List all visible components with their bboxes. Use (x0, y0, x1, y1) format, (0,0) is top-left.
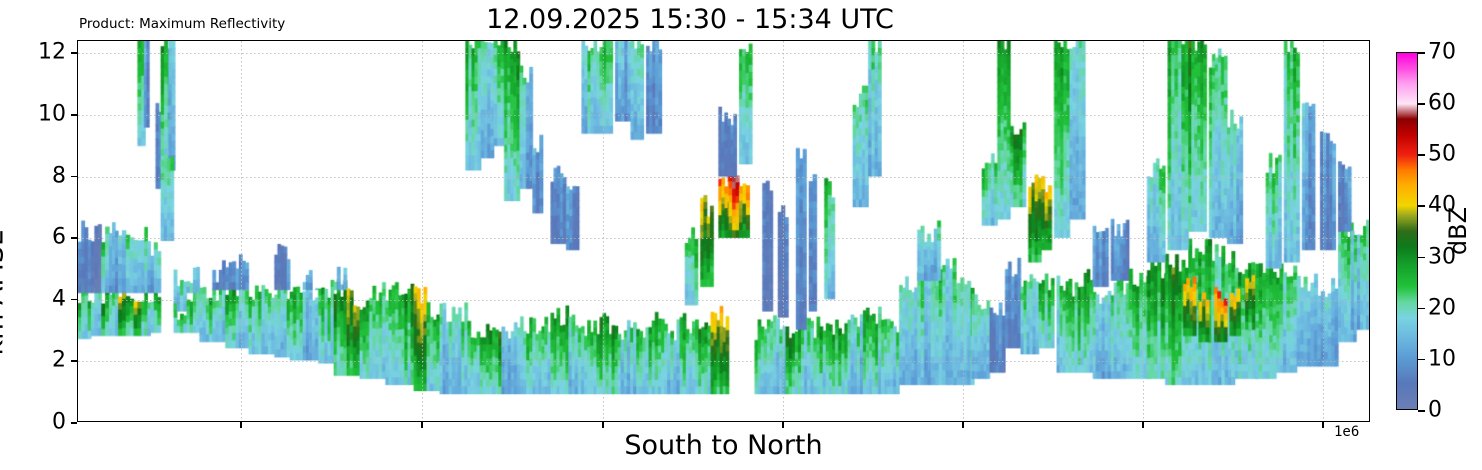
colorbar-tick (1418, 257, 1425, 259)
gridline-vertical (1143, 41, 1144, 421)
y-axis-tick (71, 114, 77, 116)
gridline-horizontal (78, 300, 1369, 301)
y-axis: 024681012 (77, 40, 78, 422)
x-axis-tick (1142, 422, 1144, 428)
y-axis-tick (71, 299, 77, 301)
product-label: Product: Maximum Reflectivity (79, 16, 285, 32)
colorbar-tick (1418, 410, 1425, 412)
x-axis-tick (962, 422, 964, 428)
y-axis-tick (71, 52, 77, 54)
colorbar-tick-label: 0 (1428, 398, 1442, 423)
y-axis-tick-label: 2 (52, 348, 66, 373)
y-axis-tick-label: 12 (38, 40, 66, 65)
colorbar-tick-label: 50 (1428, 142, 1456, 167)
gridline-horizontal (78, 177, 1369, 178)
colorbar (1396, 52, 1418, 410)
plot-area (77, 40, 1370, 422)
gridline-vertical (603, 41, 604, 421)
y-axis-tick (71, 360, 77, 362)
colorbar-tick (1418, 308, 1425, 310)
gridline-vertical (783, 41, 784, 421)
y-axis-tick-label: 8 (52, 163, 66, 188)
gridline-vertical (963, 41, 964, 421)
x-axis-offset-text: 1e6 (1334, 424, 1359, 440)
x-axis-tick (240, 422, 242, 428)
gridline-vertical (1323, 41, 1324, 421)
colorbar-tick-label: 10 (1428, 346, 1456, 371)
colorbar-tick-label: 60 (1428, 91, 1456, 116)
colorbar-tick (1418, 52, 1425, 54)
x-axis-tick (782, 422, 784, 428)
reflectivity-heatmap-canvas (78, 41, 1369, 421)
colorbar-tick (1418, 205, 1425, 207)
x-axis-tick (1322, 422, 1324, 428)
colorbar-tick (1418, 103, 1425, 105)
gridline-horizontal (78, 361, 1369, 362)
gridline-vertical (422, 41, 423, 421)
x-axis-tick (602, 422, 604, 428)
x-axis-tick (421, 422, 423, 428)
y-axis-label: km AMSL (0, 231, 10, 355)
gridline-horizontal (78, 115, 1369, 116)
x-axis-label: South to North (77, 430, 1370, 461)
y-axis-tick-label: 4 (52, 286, 66, 311)
colorbar-title: dBZ (1444, 207, 1472, 255)
y-axis-tick-label: 10 (38, 101, 66, 126)
gridline-horizontal (78, 238, 1369, 239)
radar-cross-section-figure: 12.09.2025 15:30 - 15:34 UTC Product: Ma… (0, 0, 1482, 470)
colorbar-tick (1418, 359, 1425, 361)
x-axis (0, 422, 1482, 430)
colorbar-tick (1418, 154, 1425, 156)
colorbar-tick-label: 70 (1428, 40, 1456, 65)
y-axis-tick (71, 237, 77, 239)
gridline-horizontal (78, 53, 1369, 54)
y-axis-tick (71, 176, 77, 178)
colorbar-gradient (1396, 52, 1418, 410)
colorbar-tick-label: 20 (1428, 295, 1456, 320)
gridline-vertical (241, 41, 242, 421)
y-axis-tick-label: 6 (52, 225, 66, 250)
